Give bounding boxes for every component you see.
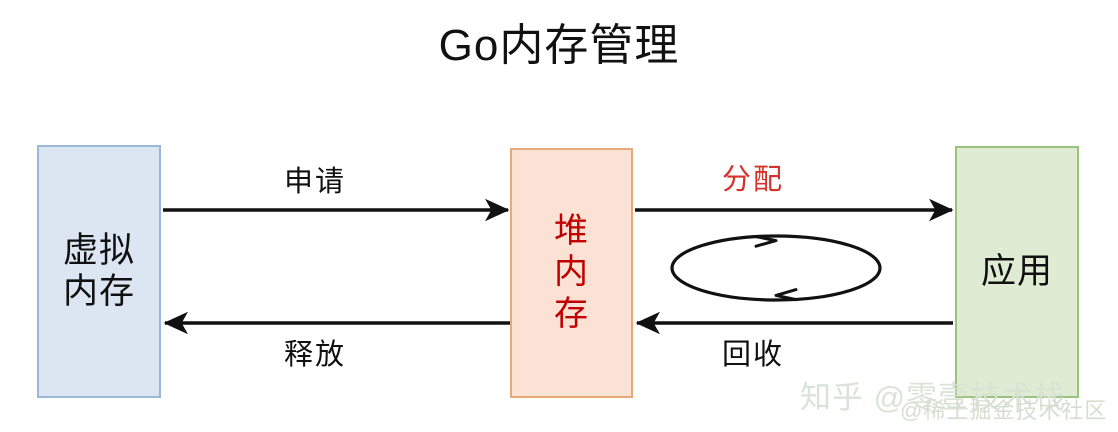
node-application[interactable]: 应用 [955, 146, 1079, 398]
gc-cycle-ellipse [672, 236, 880, 300]
edge-label-release: 释放 [284, 341, 346, 370]
edge-label-reclaim: 回收 [722, 341, 784, 370]
edge-label-allocate: 分配 [722, 166, 784, 195]
node-heap-memory[interactable]: 堆 内 存 [510, 148, 633, 398]
page-title: Go内存管理 [0, 22, 1118, 70]
node-virtual-memory[interactable]: 虚拟 内存 [37, 145, 161, 398]
edge-label-apply: 申请 [284, 168, 346, 197]
